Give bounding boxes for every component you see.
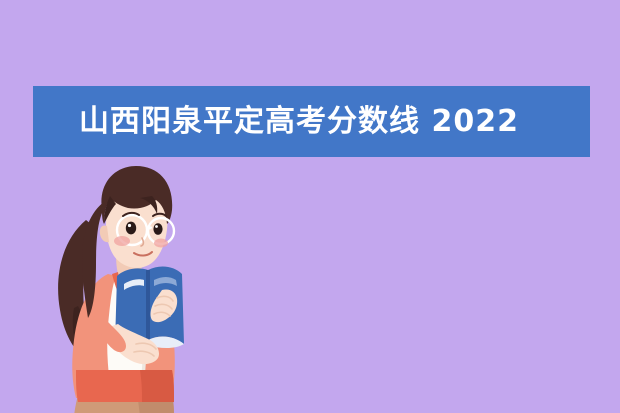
left-eye-highlight	[128, 224, 131, 227]
right-eye-highlight	[155, 225, 158, 228]
page-title: 山西阳泉平定高考分数线 2022	[79, 107, 519, 137]
cardigan-hem-shadow	[140, 370, 174, 402]
left-eye	[126, 222, 136, 235]
right-blush	[154, 239, 168, 248]
girl-reading-book-illustration	[24, 158, 234, 413]
right-eye	[153, 223, 162, 235]
left-blush	[114, 236, 130, 246]
title-banner: 山西阳泉平定高考分数线 2022	[33, 86, 590, 157]
glasses-bridge	[147, 228, 151, 230]
article-cover: 山西阳泉平定高考分数线 2022	[0, 0, 620, 413]
book-spine	[146, 270, 150, 341]
